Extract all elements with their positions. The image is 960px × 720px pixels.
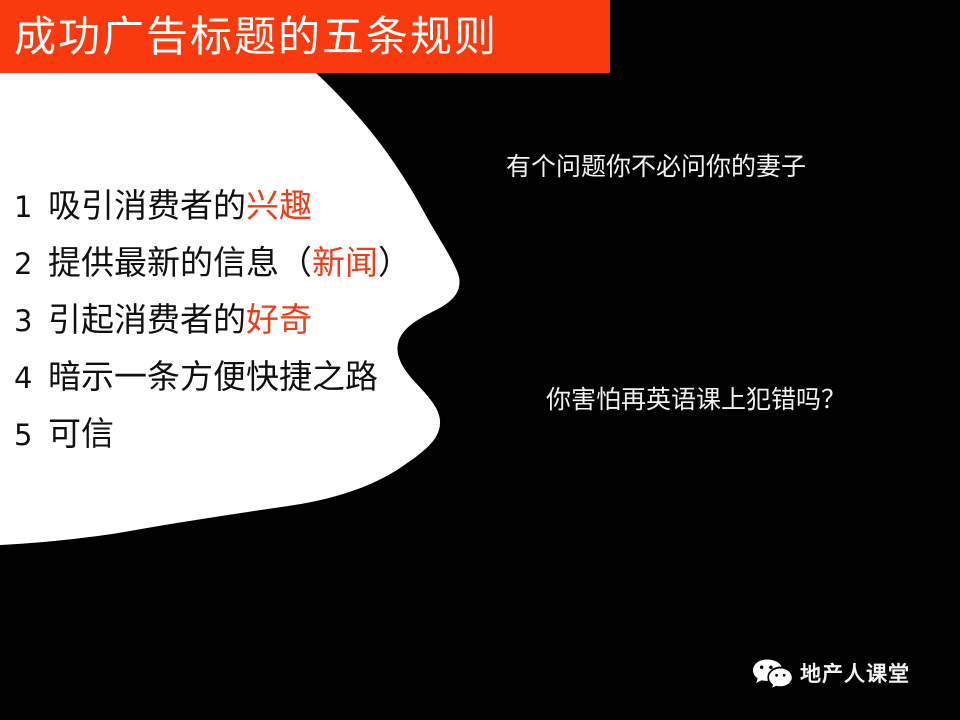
- watermark: 地产人课堂: [752, 658, 910, 688]
- list-item-number: 4: [14, 350, 48, 407]
- list-item: 1 吸引消费者的 兴趣: [14, 177, 484, 234]
- page-title: 成功广告标题的五条规则: [0, 16, 498, 58]
- list-item: 2 提供最新的信息（ 新闻 ）: [14, 234, 484, 291]
- list-item-highlight: 新闻: [312, 234, 378, 291]
- title-banner: 成功广告标题的五条规则: [0, 0, 610, 73]
- list-item-number: 5: [14, 407, 48, 464]
- list-item-text: 可信: [48, 405, 114, 462]
- list-item-number: 1: [14, 179, 48, 236]
- example-headline-2: 你害怕再英语课上犯错吗？: [546, 385, 846, 415]
- list-item-number: 3: [14, 293, 48, 350]
- list-item: 4 暗示一条方便快捷之路: [14, 348, 484, 405]
- list-item-text: 引起消费者的: [48, 291, 246, 348]
- list-item-text: 暗示一条方便快捷之路: [48, 348, 378, 405]
- list-item-number: 2: [14, 236, 48, 293]
- example-headline-1: 有个问题你不必问你的妻子: [506, 152, 806, 182]
- rules-list: 1 吸引消费者的 兴趣 2 提供最新的信息（ 新闻 ） 3 引起消费者的 好奇 …: [14, 177, 484, 462]
- list-item-text: 吸引消费者的: [48, 177, 246, 234]
- list-item-highlight: 兴趣: [246, 177, 312, 234]
- list-item-text: 提供最新的信息（: [48, 234, 312, 291]
- list-item: 5 可信: [14, 405, 484, 462]
- watermark-label: 地产人课堂: [800, 658, 910, 688]
- wechat-icon: [752, 658, 792, 688]
- list-item: 3 引起消费者的 好奇: [14, 291, 484, 348]
- list-item-highlight: 好奇: [246, 291, 312, 348]
- slide-canvas: 成功广告标题的五条规则 1 吸引消费者的 兴趣 2 提供最新的信息（ 新闻 ） …: [0, 0, 960, 720]
- list-item-suffix: ）: [378, 234, 411, 291]
